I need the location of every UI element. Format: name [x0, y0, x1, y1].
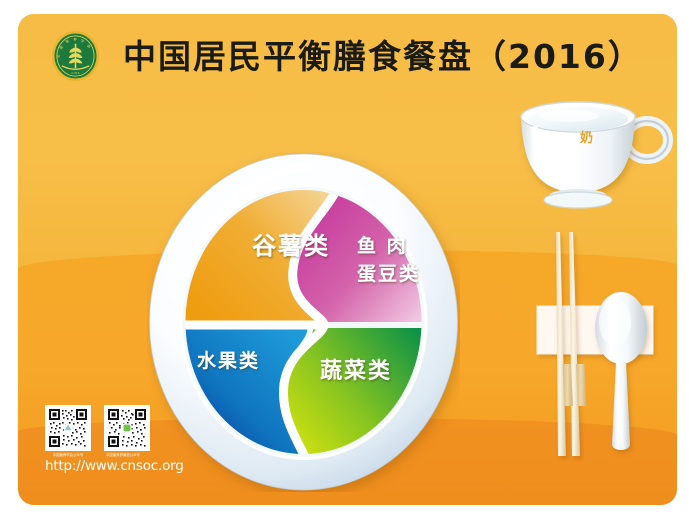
qr-code-2[interactable]: [104, 405, 150, 451]
qr-code-1[interactable]: [45, 405, 91, 451]
footer: 中国营养学会公众号中国营养界微信公众号 http://www.cnsoc.org: [45, 405, 195, 474]
chinese-nutrition-society-emblem-icon: 中 国 营 养 学 会 C N S: [51, 30, 100, 82]
plate-label-protein-line1: 鱼 肉: [357, 234, 408, 257]
spoon: [595, 292, 647, 450]
milk-cup: [505, 93, 675, 218]
plate-label-fruits: 水果类: [197, 349, 260, 372]
cutlery-group: [531, 230, 677, 462]
page-title: 中国居民平衡膳食餐盘（2016）: [123, 30, 643, 78]
milk-cup-label: 奶: [580, 127, 593, 146]
plate-label-grains: 谷薯类: [252, 232, 330, 260]
plate-label-protein-line2: 蛋豆类: [357, 262, 420, 285]
svg-text:C N S: C N S: [72, 71, 80, 75]
qr-captions: 中国营养学会公众号中国营养界微信公众号: [45, 454, 195, 457]
poster-canvas: 中 国 营 养 学 会 C N S 中国居民平衡膳食餐盘（2016）: [18, 14, 677, 505]
qr-caption-1: 中国营养学会公众号: [45, 454, 91, 457]
website-url[interactable]: http://www.cnsoc.org: [45, 458, 195, 474]
plate-label-vegetables: 蔬菜类: [320, 359, 392, 384]
qr-caption-2: 中国营养界微信公众号: [100, 454, 146, 457]
